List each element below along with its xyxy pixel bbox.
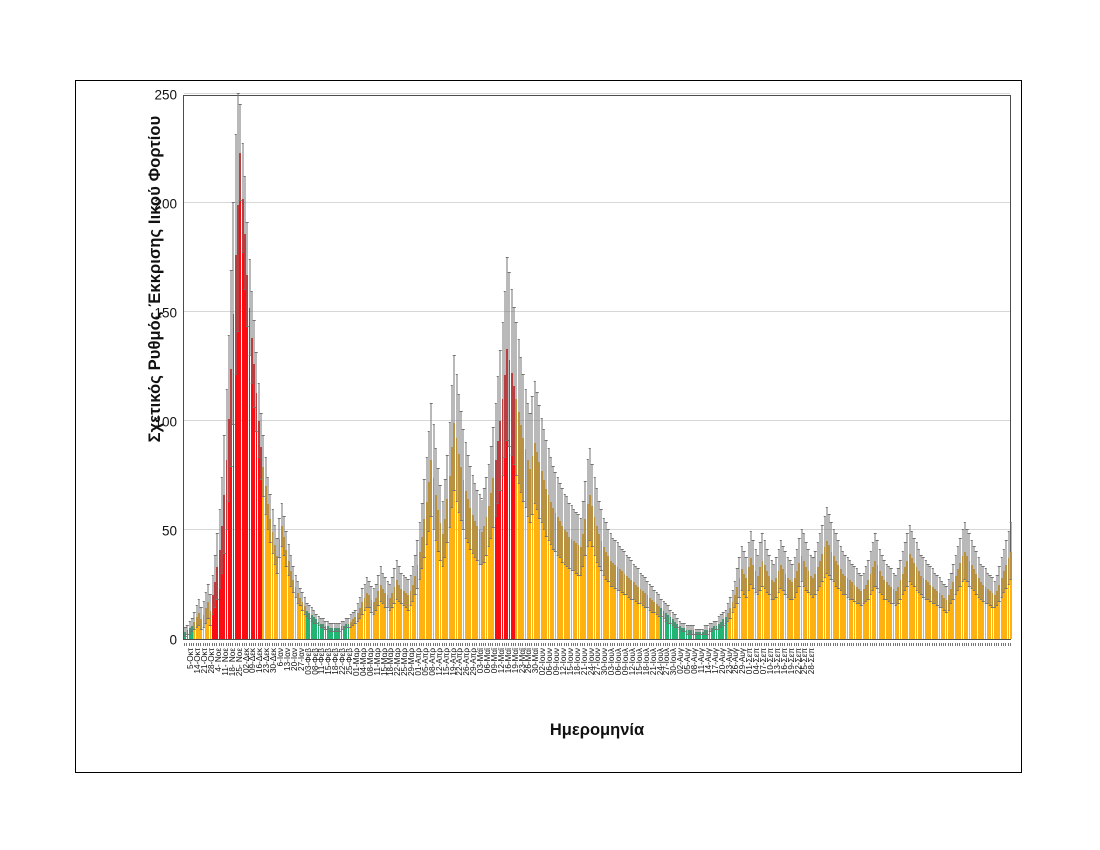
y-axis-tick-label: 50 [137,524,177,539]
error-bar [224,436,225,554]
x-axis-tick-mark [428,643,429,646]
error-bar [626,556,627,595]
error-bar [293,567,294,593]
x-axis-tick-mark [341,643,342,646]
x-axis-tick-mark [803,643,804,646]
x-axis-tick-mark [347,643,348,646]
x-axis-tick-mark [393,643,394,646]
x-axis-tick-mark [465,643,466,646]
x-axis-tick-mark [849,643,850,646]
x-axis-tick-mark [603,643,604,646]
x-axis-tick-mark [699,643,700,646]
error-bar [251,292,252,384]
x-axis-tick-mark [262,643,263,646]
x-axis-tick-mark [881,643,882,646]
error-bar [813,558,814,597]
x-axis-tick-mark [690,643,691,646]
x-axis-tick-mark [357,643,358,646]
error-bar [295,576,296,598]
x-axis-tick-mark [237,643,238,646]
x-axis-tick-mark [518,643,519,646]
x-axis-tick-mark [851,643,852,646]
x-axis-tick-mark [552,643,553,646]
error-bar [732,591,733,613]
error-bar [640,574,641,605]
x-axis-tick-mark [676,643,677,646]
x-axis-tick-mark [423,643,424,646]
error-bar [583,502,584,567]
x-axis-tick-mark [865,643,866,646]
error-bar [863,574,864,605]
x-axis-tick-mark [663,643,664,646]
x-axis-tick-mark [768,643,769,646]
x-axis-tick-mark [828,643,829,646]
y-axis-tick-label: 0 [137,633,177,648]
error-bar [854,567,855,602]
x-axis-tick-mark [672,643,673,646]
x-axis-tick-mark [301,643,302,646]
error-bar [918,550,919,594]
error-bar [426,458,427,545]
x-axis-tick-mark [582,643,583,646]
error-bar [785,552,786,596]
x-axis-tick-mark [607,643,608,646]
x-axis-tick-mark [515,643,516,646]
error-bar [470,467,471,550]
x-axis-tick-mark [242,643,243,646]
x-axis-tick-mark [835,643,836,646]
x-axis-tick-mark [755,643,756,646]
error-bar [546,441,547,537]
error-bar [428,432,429,532]
x-axis-tick-mark [373,643,374,646]
error-bar [790,561,791,600]
x-axis-tick-mark [922,643,923,646]
x-axis-tick-mark [646,643,647,646]
x-axis-tick-mark [334,643,335,646]
x-axis-tick-mark [998,643,999,646]
error-bar [516,323,517,476]
x-axis-tick-mark [285,643,286,646]
x-axis-tick-mark [209,643,210,646]
x-axis-tick-mark [492,643,493,646]
x-axis-tick-mark [278,643,279,646]
error-bar [744,552,745,596]
x-axis-tick-mark [794,643,795,646]
x-axis-tick-mark [814,643,815,646]
x-axis-tick-mark [830,643,831,646]
error-bar [203,602,204,628]
error-bar [548,449,549,541]
error-bar [911,532,912,584]
error-bar [534,382,535,504]
x-axis-tick-mark [479,643,480,646]
x-axis-tick-mark [704,643,705,646]
error-bar [497,377,498,503]
x-axis-tick-mark [488,643,489,646]
error-bar [612,539,613,587]
x-axis-tick-mark [943,643,944,646]
error-bar [576,513,577,574]
error-bar [290,556,291,587]
x-axis-tick-mark [918,643,919,646]
error-bar [543,430,544,530]
error-bar [831,523,832,580]
error-bar [502,323,503,476]
x-axis-tick-mark [223,643,224,646]
x-axis-tick-mark [502,643,503,646]
error-bar [884,561,885,600]
x-axis-tick-mark [338,643,339,646]
error-bar [842,552,843,596]
x-axis-tick-mark [370,643,371,646]
error-bar [633,565,634,600]
x-axis-tick-mark [561,643,562,646]
x-axis-tick-mark [354,643,355,646]
error-bar [663,602,664,619]
error-bar [928,565,929,600]
x-axis-tick-mark [499,643,500,646]
x-axis-tick-mark [407,643,408,646]
x-axis-tick-mark [451,643,452,646]
x-axis-tick-mark [265,643,266,646]
error-bar [486,478,487,556]
error-bar [859,574,860,605]
x-axis-tick-mark [945,643,946,646]
error-bar [783,547,784,591]
error-bar [624,552,625,596]
x-axis-tick-mark [306,643,307,646]
error-bar [861,576,862,607]
x-axis-tick-mark [295,643,296,646]
x-axis-tick-mark [628,643,629,646]
x-axis-tick-mark [232,643,233,646]
error-bar [304,598,305,615]
x-axis-tick-mark [711,643,712,646]
x-axis-tick-mark [591,643,592,646]
x-axis-tick-mark [483,643,484,646]
x-axis-tick-mark [375,643,376,646]
x-axis-tick-mark [527,643,528,646]
error-bar [511,290,512,456]
error-bar [215,556,216,608]
x-axis-tick-mark [745,643,746,646]
x-axis-tick-mark [246,643,247,646]
x-axis-tick-mark [267,643,268,646]
error-bar [840,547,841,591]
x-axis-tick-mark [773,643,774,646]
x-axis-tick-mark [235,643,236,646]
x-axis-tick-mark [679,643,680,646]
x-axis-tick-mark [957,643,958,646]
x-axis-tick-mark [366,643,367,646]
error-bar [573,510,574,571]
error-bar [916,543,917,591]
x-axis-tick-mark [398,643,399,646]
error-bar [939,578,940,609]
error-bar [477,491,478,561]
error-bar [610,534,611,586]
error-bar [254,321,255,408]
x-axis-tick-mark [435,643,436,646]
error-bar [992,578,993,609]
x-axis-tick-mark [980,643,981,646]
chart-page: Σχετικός Ρυθμός Έκκρισης Ιικού Φορτίου 0… [0,0,1100,850]
error-bar [962,530,963,582]
error-bar [491,447,492,539]
x-axis-tick-mark [387,643,388,646]
x-axis-tick-mark [695,643,696,646]
x-axis-tick-mark [810,643,811,646]
x-axis-tick-mark [847,643,848,646]
error-bar [974,547,975,591]
x-axis-tick-mark [453,643,454,646]
error-bar [564,495,565,565]
error-bar [233,203,234,425]
error-bar [530,414,531,523]
x-axis-tick-mark [214,643,215,646]
error-bar [385,578,386,609]
x-axis-tick-mark [216,643,217,646]
error-bar [934,574,935,605]
error-bar [217,534,218,599]
x-axis-tick-mark [916,643,917,646]
x-axis-tick-mark [934,643,935,646]
error-bar [741,547,742,591]
x-axis-tick-mark [352,643,353,646]
error-bar [523,375,524,501]
error-bar [615,541,616,589]
error-bar [382,574,383,605]
error-bar [235,135,236,375]
x-axis-tick-mark [805,643,806,646]
x-axis-tick-mark [559,643,560,646]
x-axis-tick-mark [975,643,976,646]
x-axis-tick-mark [511,643,512,646]
error-bar [767,550,768,594]
error-bar [661,600,662,617]
x-axis-tick-mark [311,643,312,646]
error-bar [921,556,922,595]
error-bar [417,541,418,589]
x-axis-tick-mark [508,643,509,646]
error-bar [856,569,857,604]
x-axis-tick-mark [920,643,921,646]
x-axis-tick-mark [221,643,222,646]
error-bar [967,530,968,582]
x-axis-tick-mark [462,643,463,646]
error-bar [359,598,360,620]
x-axis-tick-mark [932,643,933,646]
x-axis-tick-mark [557,643,558,646]
error-bar [1008,532,1009,584]
x-axis-tick-mark [911,643,912,646]
x-axis-tick-mark [439,643,440,646]
y-axis-tick-label: 250 [137,88,177,103]
error-bar [208,585,209,620]
y-axis-tick-label: 200 [137,197,177,212]
error-bar [909,526,910,583]
x-axis-tick-mark [534,643,535,646]
x-axis-tick-mark [504,643,505,646]
x-axis-tick-mark [743,643,744,646]
x-axis-tick-mark [904,643,905,646]
x-axis-tick-mark [189,643,190,646]
x-axis-tick-mark [630,643,631,646]
error-bar [964,523,965,580]
x-axis-tick-mark [962,643,963,646]
error-bar [562,489,563,563]
error-bar [730,598,731,620]
x-axis-tick-mark [909,643,910,646]
error-bar [373,589,374,615]
error-bar [493,428,494,528]
error-bar [819,534,820,586]
x-axis-tick-mark [419,643,420,646]
x-axis-tick-mark [858,643,859,646]
error-bar [925,561,926,600]
error-bar [419,523,420,580]
x-axis-tick-mark [833,643,834,646]
x-axis-tick-mark [290,643,291,646]
x-axis-tick-mark [490,643,491,646]
x-axis-tick-mark [410,643,411,646]
x-axis-tick-mark [732,643,733,646]
error-bar [760,543,761,591]
x-axis-tick-mark [481,643,482,646]
error-bar [557,478,558,556]
x-axis-tick-mark [416,643,417,646]
error-bar [286,532,287,567]
error-bar [879,550,880,594]
x-axis-tick-mark [513,643,514,646]
x-axis-tick-mark [863,643,864,646]
x-axis-tick-mark [764,643,765,646]
error-bar [983,567,984,602]
error-bar [829,515,830,576]
x-axis-tick-mark [824,643,825,646]
error-bar [957,547,958,591]
error-bar [267,478,268,530]
x-axis-tick-mark [989,643,990,646]
error-bar [465,443,466,539]
error-bar [838,541,839,589]
error-bar [454,356,455,491]
x-axis-tick-mark [656,643,657,646]
x-axis-tick-mark [520,643,521,646]
error-bar [635,567,636,602]
x-axis-tick-mark [741,643,742,646]
x-axis-tick-mark [899,643,900,646]
x-axis-tick-mark [796,643,797,646]
x-axis-tick-mark [253,643,254,646]
error-bar [541,419,542,524]
error-bar [778,550,779,594]
bar-group [1010,94,1012,639]
x-axis-tick-mark [856,643,857,646]
x-axis-tick-mark [819,643,820,646]
x-axis-tick-mark [766,643,767,646]
error-bar [833,530,834,582]
error-bar [762,534,763,586]
x-axis-tick-mark [902,643,903,646]
x-axis-tick-mark [681,643,682,646]
error-bar [907,534,908,586]
x-axis-tick-mark [308,643,309,646]
x-axis-tick-mark [589,643,590,646]
x-axis-tick-mark [251,643,252,646]
x-axis-tick-mark [738,643,739,646]
x-axis-tick-mark [396,643,397,646]
x-axis-tick-mark [389,643,390,646]
x-axis-tick-mark [837,643,838,646]
error-bar [923,558,924,597]
error-bar [433,425,434,530]
x-axis-tick-mark [426,643,427,646]
error-bar [412,567,413,602]
x-axis-tick-mark [276,643,277,646]
x-axis-tick-mark [212,643,213,646]
x-axis-tick-mark [982,643,983,646]
x-axis-tick-mark [297,643,298,646]
error-bar [665,604,666,621]
error-bar [882,556,883,595]
x-axis-tick-mark [575,643,576,646]
error-bar [472,476,473,554]
x-axis-tick-mark [692,643,693,646]
error-bar [606,523,607,580]
error-bar [755,550,756,594]
x-axis-tick-mark [331,643,332,646]
x-axis-tick-mark [345,643,346,646]
error-bar [449,423,450,528]
x-axis-tick-mark [991,643,992,646]
x-axis-tick-mark [361,643,362,646]
x-axis-tick-mark [433,643,434,646]
x-axis-tick-mark [791,643,792,646]
error-bar [932,569,933,604]
x-axis-tick-mark [596,643,597,646]
x-axis-tick-mark [421,643,422,646]
x-axis-tick-mark [1001,643,1002,646]
error-bar [826,508,827,573]
error-bar [852,565,853,600]
bar-series [184,96,1010,639]
error-bar [520,358,521,493]
error-bar [555,473,556,551]
error-bar [532,397,533,515]
x-axis-tick-mark [274,643,275,646]
error-bar [507,258,508,441]
x-axis-tick-mark [550,643,551,646]
x-axis-tick-mark [987,643,988,646]
x-axis-tick-mark [906,643,907,646]
x-axis-tick-mark [798,643,799,646]
x-axis-tick-mark [380,643,381,646]
error-bar [799,539,800,587]
x-axis-tick-mark [886,643,887,646]
x-axis-tick-mark [782,643,783,646]
x-axis-tick-mark [472,643,473,646]
error-bar [746,558,747,597]
x-axis-tick-mark [718,643,719,646]
error-bar [440,486,441,560]
x-axis-tick-mark [580,643,581,646]
x-axis-tick-mark [897,643,898,646]
error-bar [817,543,818,591]
x-axis-tick-mark [966,643,967,646]
x-axis-tick-mark [320,643,321,646]
